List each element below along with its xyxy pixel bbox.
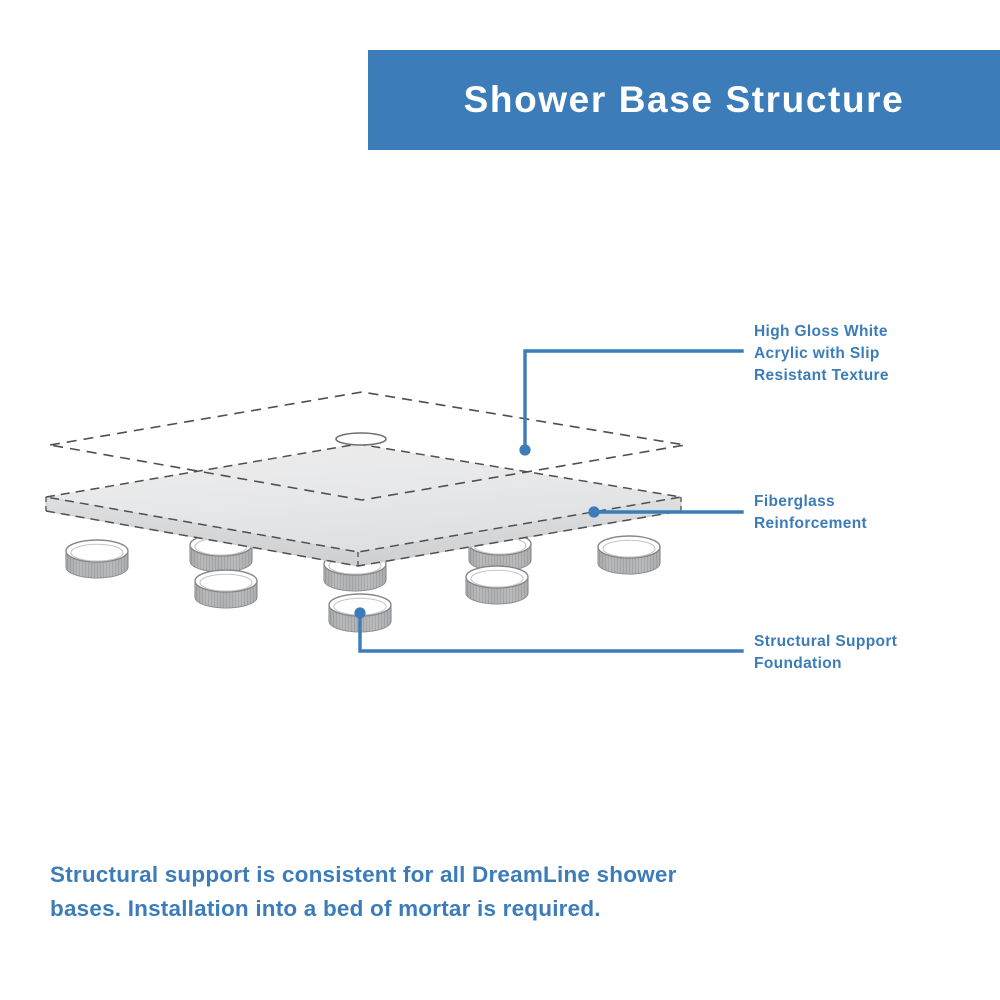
- support-ring: [598, 536, 660, 574]
- drain-opening: [336, 433, 386, 445]
- leader-dot-support: [354, 607, 365, 618]
- support-ring: [66, 540, 128, 578]
- shower-base-infographic: Shower Base Structure: [0, 0, 1000, 1000]
- fiberglass-slab-layer: [46, 444, 681, 566]
- callout-label-support: Structural Support Foundation: [754, 631, 989, 675]
- leader-line-support: [360, 613, 742, 651]
- leader-dot-fiberglass: [588, 506, 599, 517]
- footer-caption: Structural support is consistent for all…: [50, 858, 690, 926]
- callout-label-acrylic: High Gloss White Acrylic with Slip Resis…: [754, 321, 989, 387]
- callout-label-fiberglass: Fiberglass Reinforcement: [754, 491, 989, 535]
- leader-dot-acrylic: [519, 444, 530, 455]
- support-ring: [466, 566, 528, 604]
- support-ring: [195, 570, 257, 608]
- leader-line-acrylic: [525, 351, 742, 450]
